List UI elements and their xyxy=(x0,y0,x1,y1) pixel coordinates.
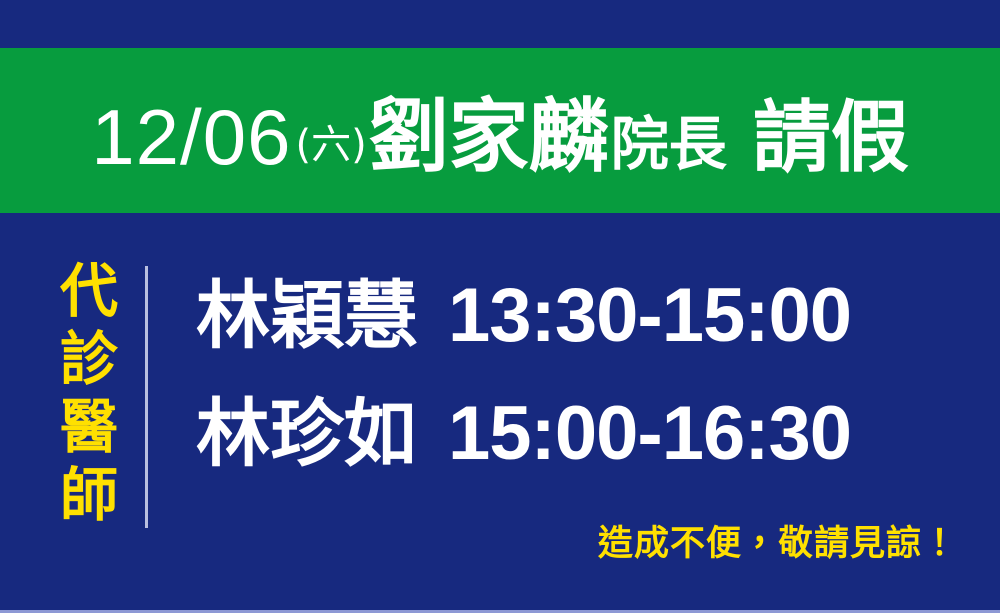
substitute-doctor-label-char-1: 代 xyxy=(60,257,118,325)
header-leave-status: 請假 xyxy=(753,99,909,177)
substitute-doctor-label: 代 診 醫 師 xyxy=(52,258,126,528)
substitute-doctor-label-char-3: 醫 xyxy=(60,393,118,461)
header-weekday: (六) xyxy=(295,125,366,165)
apology-note: 造成不便，敬請見諒！ xyxy=(598,527,958,562)
header-doctor-name: 劉家麟 xyxy=(369,97,609,177)
header-band: 12/06 (六) 劉家麟 院長 請假 xyxy=(0,48,1000,213)
schedule-time-range: 15:00-16:30 xyxy=(448,396,851,472)
substitute-doctor-label-char-4: 師 xyxy=(60,461,118,529)
schedule-row: 林珍如 15:00-16:30 xyxy=(196,396,956,514)
header-headline: 12/06 (六) 劉家麟 院長 請假 xyxy=(91,97,908,177)
schedule-doctor-name: 林穎慧 xyxy=(196,279,418,353)
header-date: 12/06 xyxy=(91,98,291,176)
schedule-row: 林穎慧 13:30-15:00 xyxy=(196,278,956,396)
schedule-time-range: 13:30-15:00 xyxy=(448,278,851,354)
vertical-divider xyxy=(145,266,148,528)
clinic-leave-notice-banner: 12/06 (六) 劉家麟 院長 請假 代 診 醫 師 林穎慧 13:30-15… xyxy=(0,0,1000,613)
schedule-list: 林穎慧 13:30-15:00 林珍如 15:00-16:30 xyxy=(196,278,956,514)
substitute-doctor-label-char-2: 診 xyxy=(60,325,118,393)
header-doctor-title: 院長 xyxy=(611,115,727,173)
schedule-doctor-name: 林珍如 xyxy=(196,397,418,471)
